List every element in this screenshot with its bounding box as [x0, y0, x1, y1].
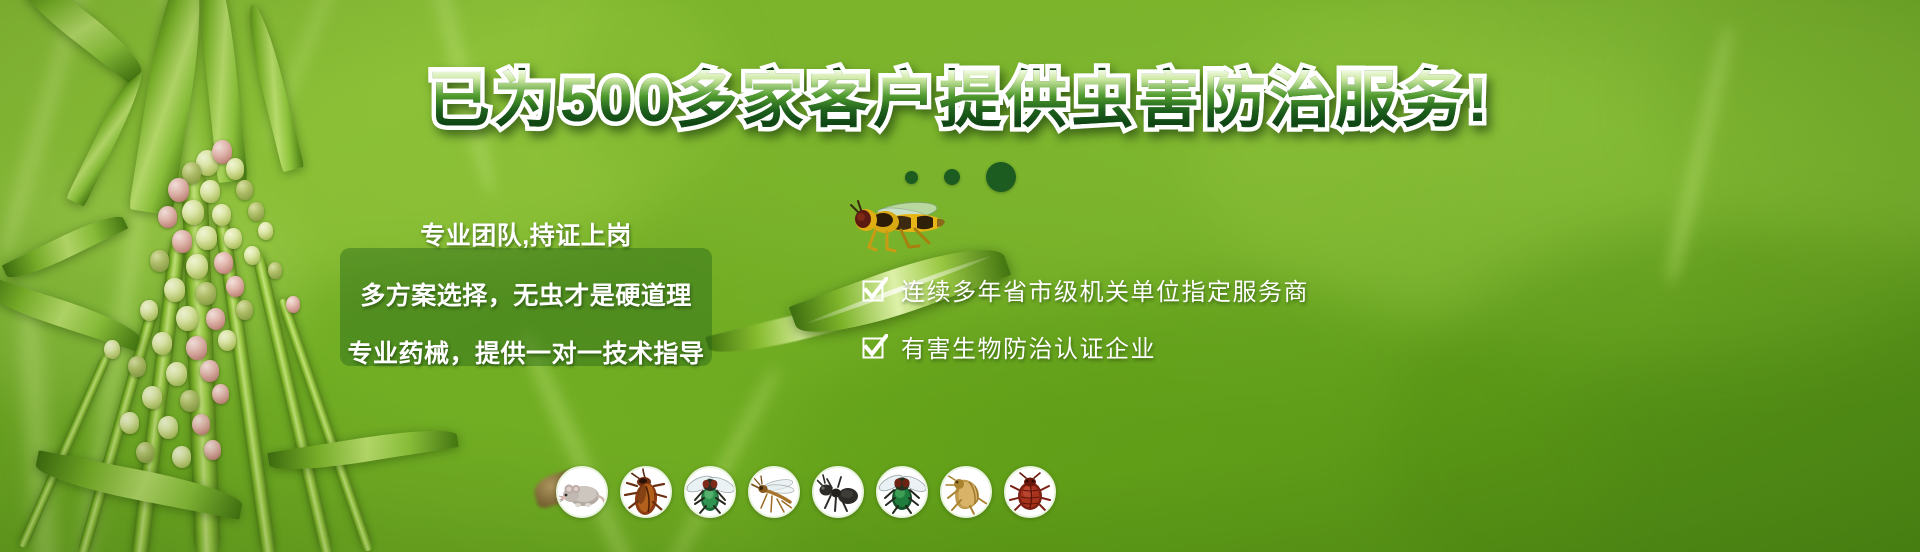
pest-type-icon-row [556, 466, 1056, 518]
credential-label: 有害生物防治认证企业 [901, 329, 1156, 364]
list-item: 有害生物防治认证企业 [862, 329, 1309, 364]
list-item: 连续多年省市级机关单位指定服务商 [862, 272, 1309, 307]
selling-points-text-group: 专业团队,持证上岗 多方案选择，无虫才是硬道理 专业药械，提供一对一技术指导 [340, 216, 712, 370]
selling-point-line-3: 专业药械，提供一对一技术指导 [340, 334, 712, 370]
checkbox-checked-icon [862, 277, 888, 303]
dot-medium-icon [944, 169, 960, 185]
selling-point-line-2: 多方案选择，无虫才是硬道理 [340, 276, 712, 312]
mosquito-icon [748, 466, 800, 518]
pest-control-promo-banner: 已为500多家客户提供虫害防治服务! 已为500多家客户提供虫害防治服务! 专业… [0, 0, 1920, 552]
housefly-icon [684, 466, 736, 518]
cockroach-icon [620, 466, 672, 518]
rat-icon [556, 466, 608, 518]
checkbox-checked-icon [862, 334, 888, 360]
selling-point-line-1: 专业团队,持证上岗 [340, 216, 712, 252]
blowfly-icon [876, 466, 928, 518]
credential-label: 连续多年省市级机关单位指定服务商 [901, 272, 1309, 307]
dot-small-icon [905, 171, 918, 184]
decorative-dot-row [0, 162, 1920, 192]
flea-icon [940, 466, 992, 518]
page-title: 已为500多家客户提供虫害防治服务! 已为500多家客户提供虫害防治服务! [0, 70, 1920, 132]
headline-fill-layer: 已为500多家客户提供虫害防治服务! [0, 70, 1920, 132]
credentials-list: 连续多年省市级机关单位指定服务商 有害生物防治认证企业 [862, 272, 1309, 386]
dot-large-icon [986, 162, 1016, 192]
bedbug-icon [1004, 466, 1056, 518]
ant-icon [812, 466, 864, 518]
